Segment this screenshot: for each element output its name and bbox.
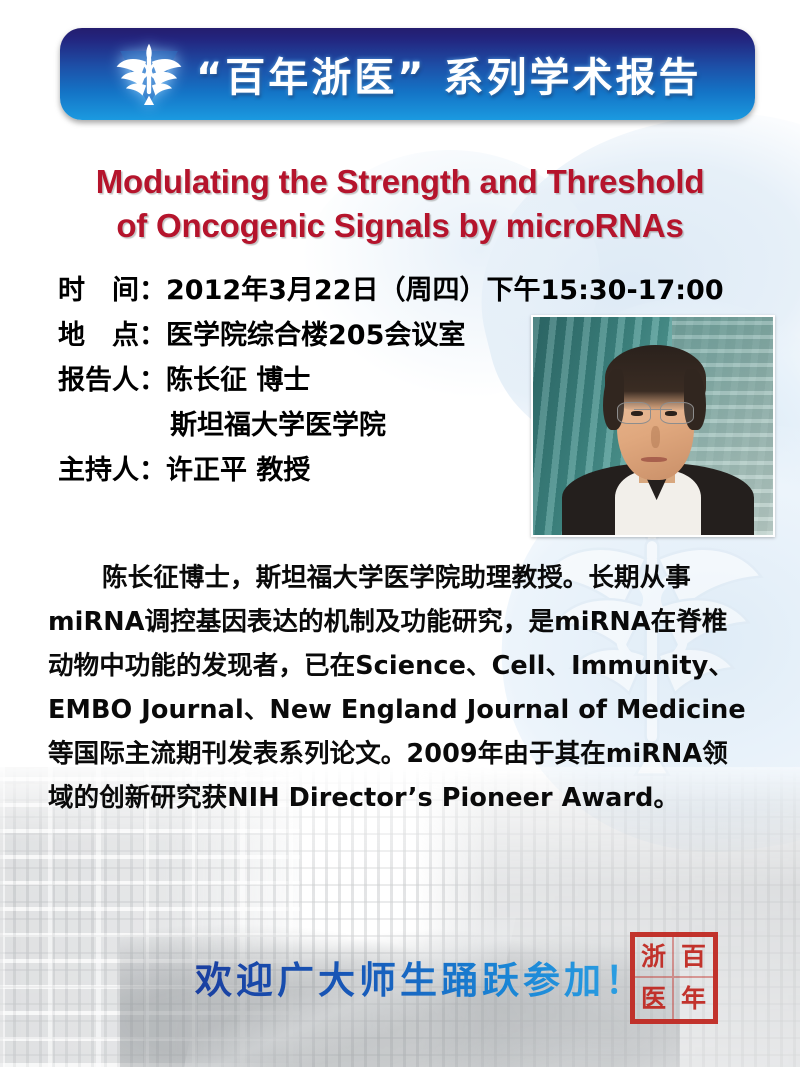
seal-char-3: 医 xyxy=(635,978,674,1019)
page-title: Modulating the Strength and Threshold of… xyxy=(0,160,800,248)
photo-eye-right xyxy=(665,411,677,416)
page-title-line-1: Modulating the Strength and Threshold xyxy=(0,160,800,204)
seal-char-2: 百 xyxy=(674,937,713,978)
header-banner: “百年浙医” 系列学术报告 xyxy=(60,28,755,120)
poster-root: “百年浙医” 系列学术报告 Modulating the Strength an… xyxy=(0,0,800,1067)
photo-glasses-bridge xyxy=(634,409,672,411)
speaker-bio: 陈长征博士，斯坦福大学医学院助理教授。长期从事miRNA调控基因表达的机制及功能… xyxy=(48,556,748,820)
page-title-line-2: of Oncogenic Signals by microRNAs xyxy=(0,204,800,248)
seal-char-4: 年 xyxy=(674,978,713,1019)
photo-eye-left xyxy=(631,411,643,416)
red-seal-stamp: 浙 百 医 年 xyxy=(630,932,718,1024)
caduceus-emblem-icon xyxy=(112,38,186,110)
photo-nose xyxy=(651,426,661,448)
banner-title: “百年浙医” 系列学术报告 xyxy=(196,45,702,103)
speaker-photo xyxy=(531,315,775,537)
photo-mouth xyxy=(641,457,667,462)
photo-glasses-icon xyxy=(617,402,694,422)
seal-char-1: 浙 xyxy=(635,937,674,978)
info-time: 时 间：2012年3月22日（周四）下午15:30-17:00 xyxy=(58,268,758,313)
welcome-slogan: 欢迎广大师生踊跃参加！ xyxy=(195,950,646,1004)
